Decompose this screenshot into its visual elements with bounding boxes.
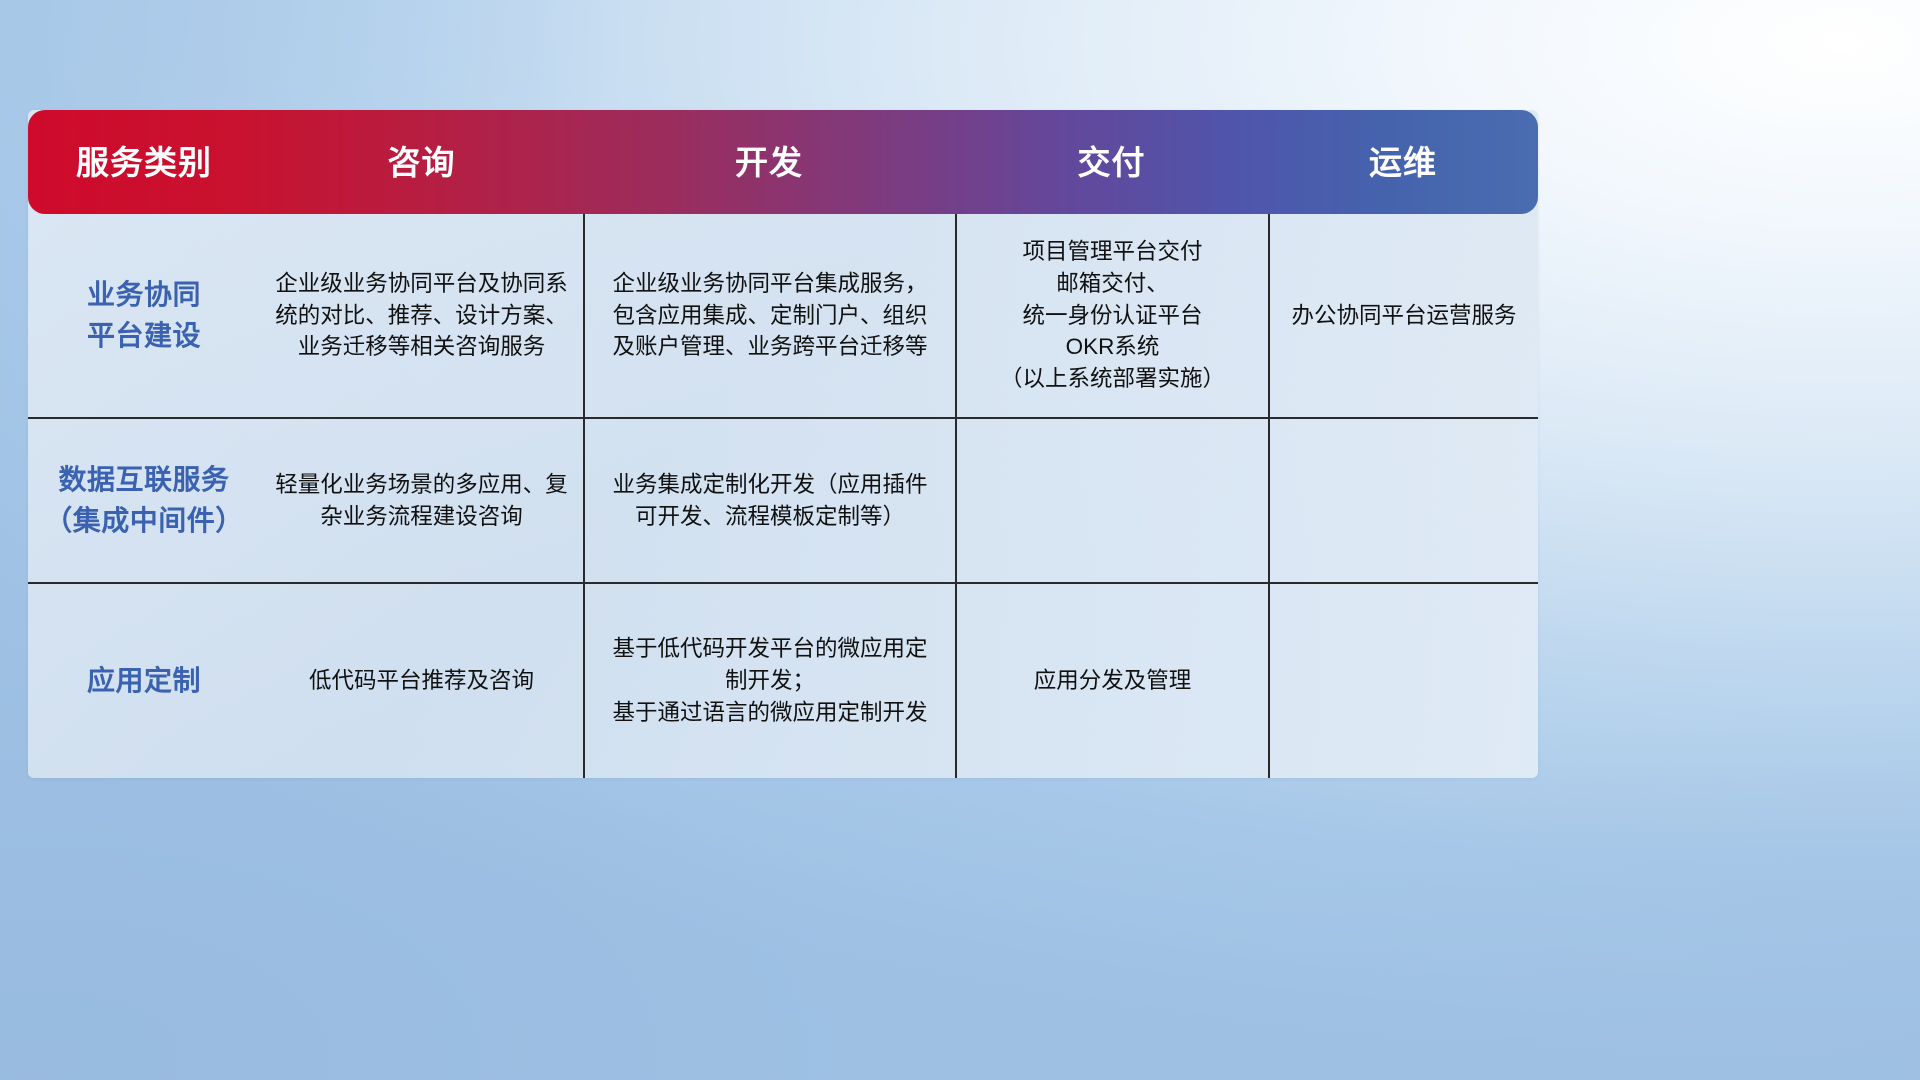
cell-operations bbox=[1268, 584, 1538, 778]
column-header-delivery: 交付 bbox=[955, 146, 1268, 179]
cell-consulting: 低代码平台推荐及咨询 bbox=[260, 584, 583, 778]
row-category-label: 应用定制 bbox=[28, 584, 260, 778]
row-category-label: 业务协同 平台建设 bbox=[28, 214, 260, 417]
cell-delivery: 应用分发及管理 bbox=[955, 584, 1268, 778]
cell-operations bbox=[1268, 419, 1538, 582]
cell-operations: 办公协同平台运营服务 bbox=[1268, 214, 1538, 417]
table-header-row: 服务类别 咨询 开发 交付 运维 bbox=[28, 110, 1538, 214]
table-row: 数据互联服务 （集成中间件） 轻量化业务场景的多应用、复 杂业务流程建设咨询 业… bbox=[28, 419, 1538, 584]
row-category-label: 数据互联服务 （集成中间件） bbox=[28, 419, 260, 582]
table-body: 业务协同 平台建设 企业级业务协同平台及协同系 统的对比、推荐、设计方案、 业务… bbox=[28, 214, 1538, 778]
table-row: 业务协同 平台建设 企业级业务协同平台及协同系 统的对比、推荐、设计方案、 业务… bbox=[28, 214, 1538, 419]
cell-delivery: 项目管理平台交付 邮箱交付、 统一身份认证平台 OKR系统 （以上系统部署实施） bbox=[955, 214, 1268, 417]
column-header-consulting: 咨询 bbox=[260, 146, 583, 179]
cell-consulting: 轻量化业务场景的多应用、复 杂业务流程建设咨询 bbox=[260, 419, 583, 582]
column-header-development: 开发 bbox=[583, 146, 955, 179]
cell-consulting: 企业级业务协同平台及协同系 统的对比、推荐、设计方案、 业务迁移等相关咨询服务 bbox=[260, 214, 583, 417]
cell-development: 企业级业务协同平台集成服务， 包含应用集成、定制门户、组织 及账户管理、业务跨平… bbox=[583, 214, 955, 417]
table-row: 应用定制 低代码平台推荐及咨询 基于低代码开发平台的微应用定 制开发； 基于通过… bbox=[28, 584, 1538, 778]
column-header-category: 服务类别 bbox=[28, 146, 260, 179]
column-header-operations: 运维 bbox=[1268, 146, 1538, 179]
cell-development: 基于低代码开发平台的微应用定 制开发； 基于通过语言的微应用定制开发 bbox=[583, 584, 955, 778]
cell-delivery bbox=[955, 419, 1268, 582]
cell-development: 业务集成定制化开发（应用插件 可开发、流程模板定制等） bbox=[583, 419, 955, 582]
